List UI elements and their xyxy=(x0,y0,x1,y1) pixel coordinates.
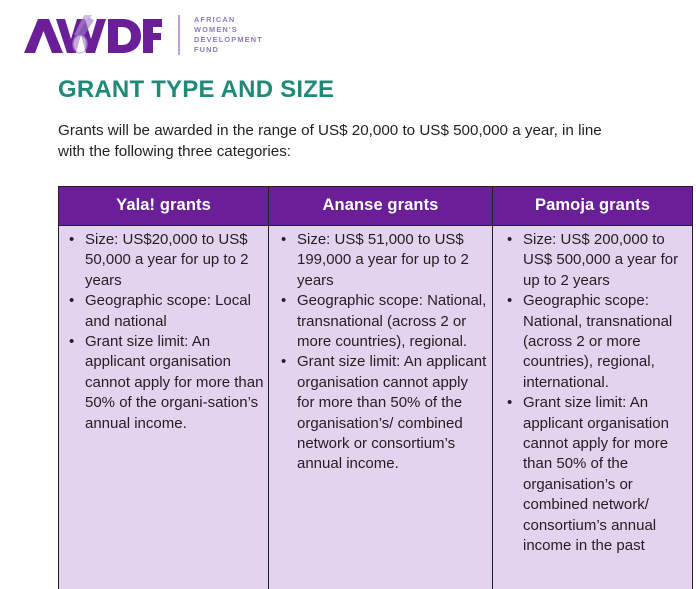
bullet-icon: • xyxy=(281,291,286,311)
intro-paragraph: Grants will be awarded in the range of U… xyxy=(0,104,636,162)
list-item-text: Geographic scope: National, transnationa… xyxy=(297,292,486,350)
column-header-pamoja: Pamoja grants xyxy=(493,187,693,226)
list-item: •Size: US$ 200,000 to US$ 500,000 a year… xyxy=(493,230,688,291)
list-item: •Geographic scope: National, transnation… xyxy=(269,291,488,352)
pamoja-bullet-list: •Size: US$ 200,000 to US$ 500,000 a year… xyxy=(493,230,688,557)
list-item: •Geographic scope: Local and national xyxy=(59,291,264,332)
bullet-icon: • xyxy=(507,291,512,311)
list-item-text: Grant size limit: An applicant organisat… xyxy=(523,394,669,554)
table-cell-yala: •Size: US$20,000 to US$ 50,000 a year fo… xyxy=(59,226,269,589)
list-item: •Size: US$20,000 to US$ 50,000 a year fo… xyxy=(59,230,264,291)
table-cell-pamoja: •Size: US$ 200,000 to US$ 500,000 a year… xyxy=(493,226,693,589)
grant-type-and-size-table: Yala! grants Ananse grants Pamoja grants… xyxy=(58,186,693,589)
ananse-bullet-list: •Size: US$ 51,000 to US$ 199,000 a year … xyxy=(269,230,488,475)
awdf-wordmark: AFRICAN WOMEN'S DEVELOPMENT FUND xyxy=(194,15,263,56)
yala-bullet-list: •Size: US$20,000 to US$ 50,000 a year fo… xyxy=(59,230,264,434)
list-item-text: Geographic scope: National, transnationa… xyxy=(523,292,672,391)
bullet-icon: • xyxy=(69,291,74,311)
page-root: AFRICAN WOMEN'S DEVELOPMENT FUND GRANT T… xyxy=(0,0,696,589)
list-item: •Grant size limit: An applicant organisa… xyxy=(269,352,488,474)
list-item-text: Size: US$ 51,000 to US$ 199,000 a year f… xyxy=(297,231,469,289)
table-cell-ananse: •Size: US$ 51,000 to US$ 199,000 a year … xyxy=(269,226,493,589)
awdf-logo: AFRICAN WOMEN'S DEVELOPMENT FUND xyxy=(22,13,263,57)
list-item: •Grant size limit: An applicant organisa… xyxy=(59,332,264,434)
list-item-text: Size: US$ 200,000 to US$ 500,000 a year … xyxy=(523,231,678,289)
list-item-text: Geographic scope: Local and national xyxy=(85,292,251,329)
list-item-text: Grant size limit: An applicant organisat… xyxy=(297,353,486,472)
list-item-text: Grant size limit: An applicant organisat… xyxy=(85,333,263,432)
bullet-icon: • xyxy=(281,352,286,372)
bullet-icon: • xyxy=(69,230,74,250)
list-item: •Size: US$ 51,000 to US$ 199,000 a year … xyxy=(269,230,488,291)
list-item: •Grant size limit: An applicant organisa… xyxy=(493,393,688,556)
bullet-icon: • xyxy=(69,332,74,352)
logo-divider xyxy=(178,15,180,55)
table-body-row: •Size: US$20,000 to US$ 50,000 a year fo… xyxy=(59,226,693,589)
logo-header: AFRICAN WOMEN'S DEVELOPMENT FUND xyxy=(0,0,696,76)
table-header-row: Yala! grants Ananse grants Pamoja grants xyxy=(59,187,693,226)
column-header-ananse: Ananse grants xyxy=(269,187,493,226)
bullet-icon: • xyxy=(507,393,512,413)
awdf-logomark-icon xyxy=(22,13,162,57)
bullet-icon: • xyxy=(507,230,512,250)
bullet-icon: • xyxy=(281,230,286,250)
column-header-yala: Yala! grants xyxy=(59,187,269,226)
list-item: •Geographic scope: National, transnation… xyxy=(493,291,688,393)
list-item-text: Size: US$20,000 to US$ 50,000 a year for… xyxy=(85,231,248,289)
page-title: GRANT TYPE AND SIZE xyxy=(0,76,696,104)
